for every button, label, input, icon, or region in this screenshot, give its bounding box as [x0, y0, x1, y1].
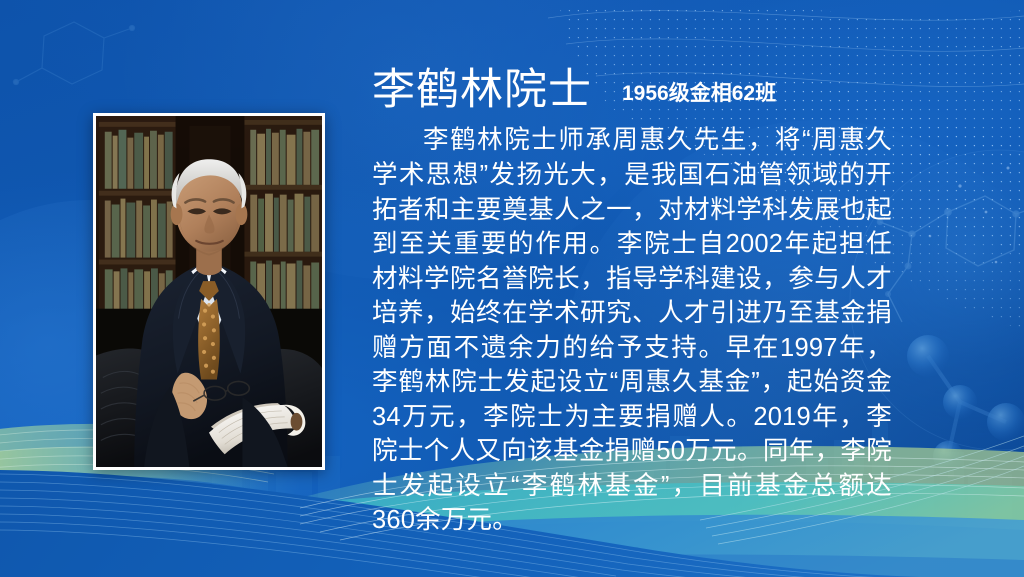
class-label: 1956级金相62班	[622, 77, 776, 107]
portrait-photo	[96, 116, 322, 467]
biography-paragraph: 李鹤林院士师承周惠久先生，将“周惠久学术思想”发扬光大，是我国石油管领域的开拓者…	[372, 123, 892, 538]
portrait-photo-frame	[93, 113, 325, 470]
text-column: 李鹤林院士 1956级金相62班 李鹤林院士师承周惠久先生，将“周惠久学术思想”…	[372, 66, 892, 538]
slide-canvas: 李鹤林院士 1956级金相62班 李鹤林院士师承周惠久先生，将“周惠久学术思想”…	[0, 0, 1024, 577]
title-row: 李鹤林院士 1956级金相62班	[372, 66, 892, 115]
portrait-illustration	[96, 116, 322, 467]
page-title: 李鹤林院士	[372, 66, 592, 115]
